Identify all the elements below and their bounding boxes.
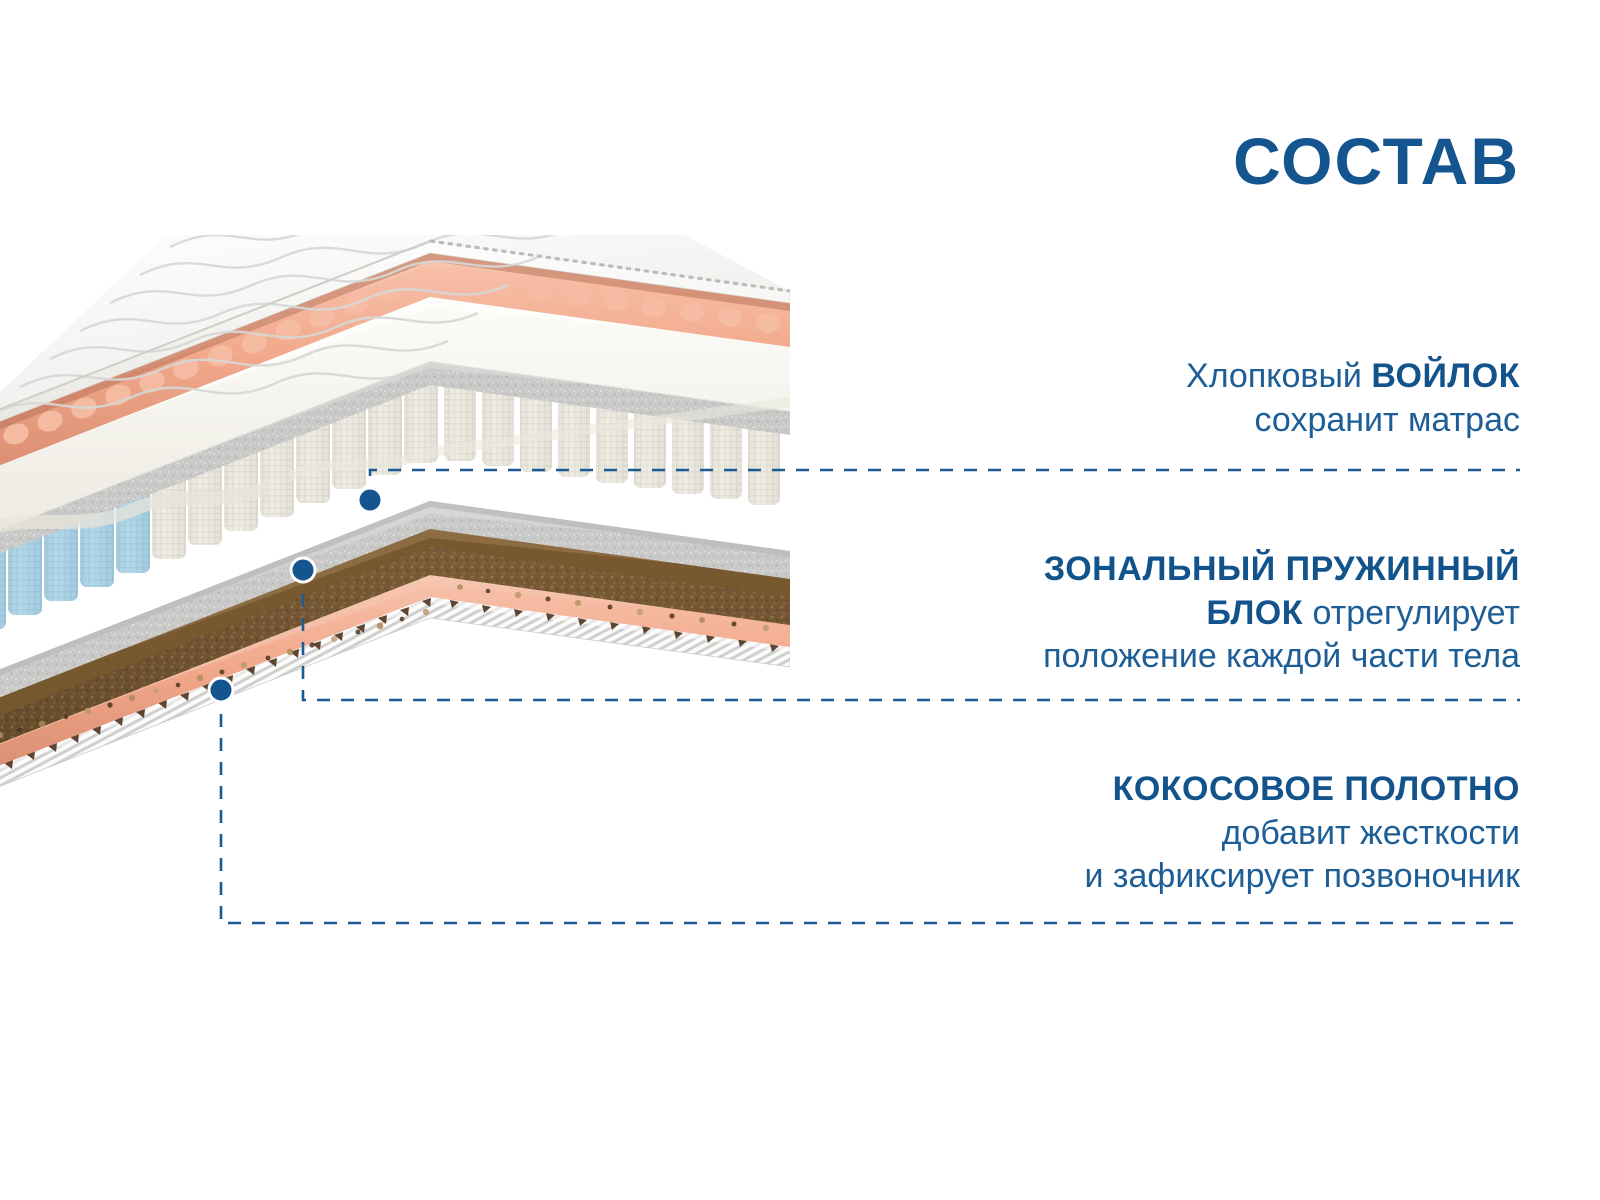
callout-cotton-felt-prefix: Хлопковый (1186, 357, 1371, 395)
mattress-svg (0, 235, 790, 815)
callout-spring-block-line3: положение каждой части тела (820, 635, 1520, 679)
callout-spring-block-line1: ЗОНАЛЬНЫЙ ПРУЖИННЫЙ (820, 548, 1520, 592)
page-title: СОСТАВ (0, 128, 1520, 194)
callout-coconut-line3: и зафиксирует позвоночник (820, 855, 1520, 899)
callout-spring-block-line2: БЛОК отрегулирует (820, 592, 1520, 636)
callout-spring-block-emphasis: БЛОК (1206, 594, 1303, 632)
mattress-cutaway-illustration (0, 235, 790, 815)
callout-cotton-felt: Хлопковый ВОЙЛОК сохранит матрас (820, 355, 1520, 442)
callout-cotton-felt-line2: сохранит матрас (820, 399, 1520, 443)
callout-cotton-felt-emphasis: ВОЙЛОК (1371, 357, 1520, 395)
callout-coconut-line2: добавит жесткости (820, 812, 1520, 856)
callout-spring-block-suffix: отрегулирует (1303, 594, 1520, 632)
callout-cotton-felt-line1: Хлопковый ВОЙЛОК (820, 355, 1520, 399)
callout-coconut: КОКОСОВОЕ ПОЛОТНО добавит жесткости и за… (820, 768, 1520, 899)
infographic-canvas: СОСТАВ (0, 0, 1600, 1200)
callout-spring-block: ЗОНАЛЬНЫЙ ПРУЖИННЫЙ БЛОК отрегулирует по… (820, 548, 1520, 679)
callout-coconut-line1: КОКОСОВОЕ ПОЛОТНО (820, 768, 1520, 812)
